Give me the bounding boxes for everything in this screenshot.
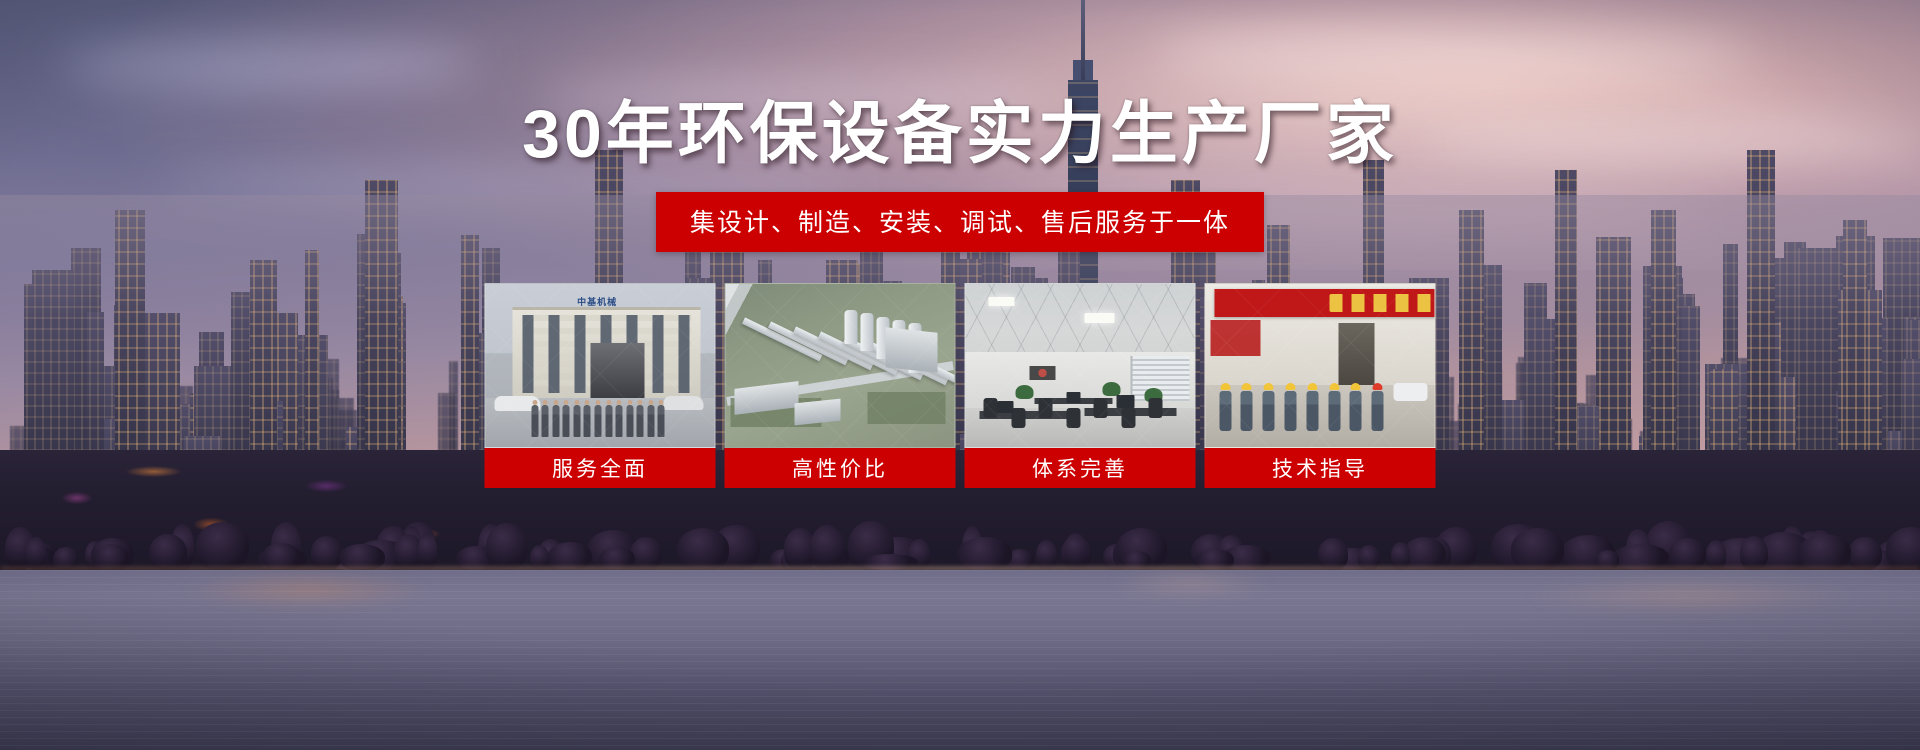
card-photo-workshop <box>1205 283 1436 448</box>
subtitle-bar: 集设计、制造、安装、调试、售后服务于一体 <box>656 192 1264 252</box>
feature-card[interactable]: 中基机械 服务全面 <box>485 283 716 488</box>
feature-card[interactable]: 高性价比 <box>725 283 956 488</box>
page-title: 30年环保设备实力生产厂家 <box>0 100 1920 168</box>
card-label: 技术指导 <box>1205 448 1436 488</box>
feature-card[interactable]: 体系完善 <box>965 283 1196 488</box>
card-photo-office <box>965 283 1196 448</box>
feature-card-list: 中基机械 服务全面 高性价比 <box>485 283 1436 488</box>
card-photo-plant <box>725 283 956 448</box>
banner-content: 30年环保设备实力生产厂家 集设计、制造、安装、调试、售后服务于一体 中基机械 … <box>0 0 1920 750</box>
card-photo-headquarters: 中基机械 <box>485 283 716 448</box>
building-sign-text: 中基机械 <box>577 295 617 308</box>
card-label: 体系完善 <box>965 448 1196 488</box>
card-label: 高性价比 <box>725 448 956 488</box>
card-label: 服务全面 <box>485 448 716 488</box>
hero-banner: 30年环保设备实力生产厂家 集设计、制造、安装、调试、售后服务于一体 中基机械 … <box>0 0 1920 750</box>
feature-card[interactable]: 技术指导 <box>1205 283 1436 488</box>
workshop-red-banner <box>1215 289 1436 317</box>
